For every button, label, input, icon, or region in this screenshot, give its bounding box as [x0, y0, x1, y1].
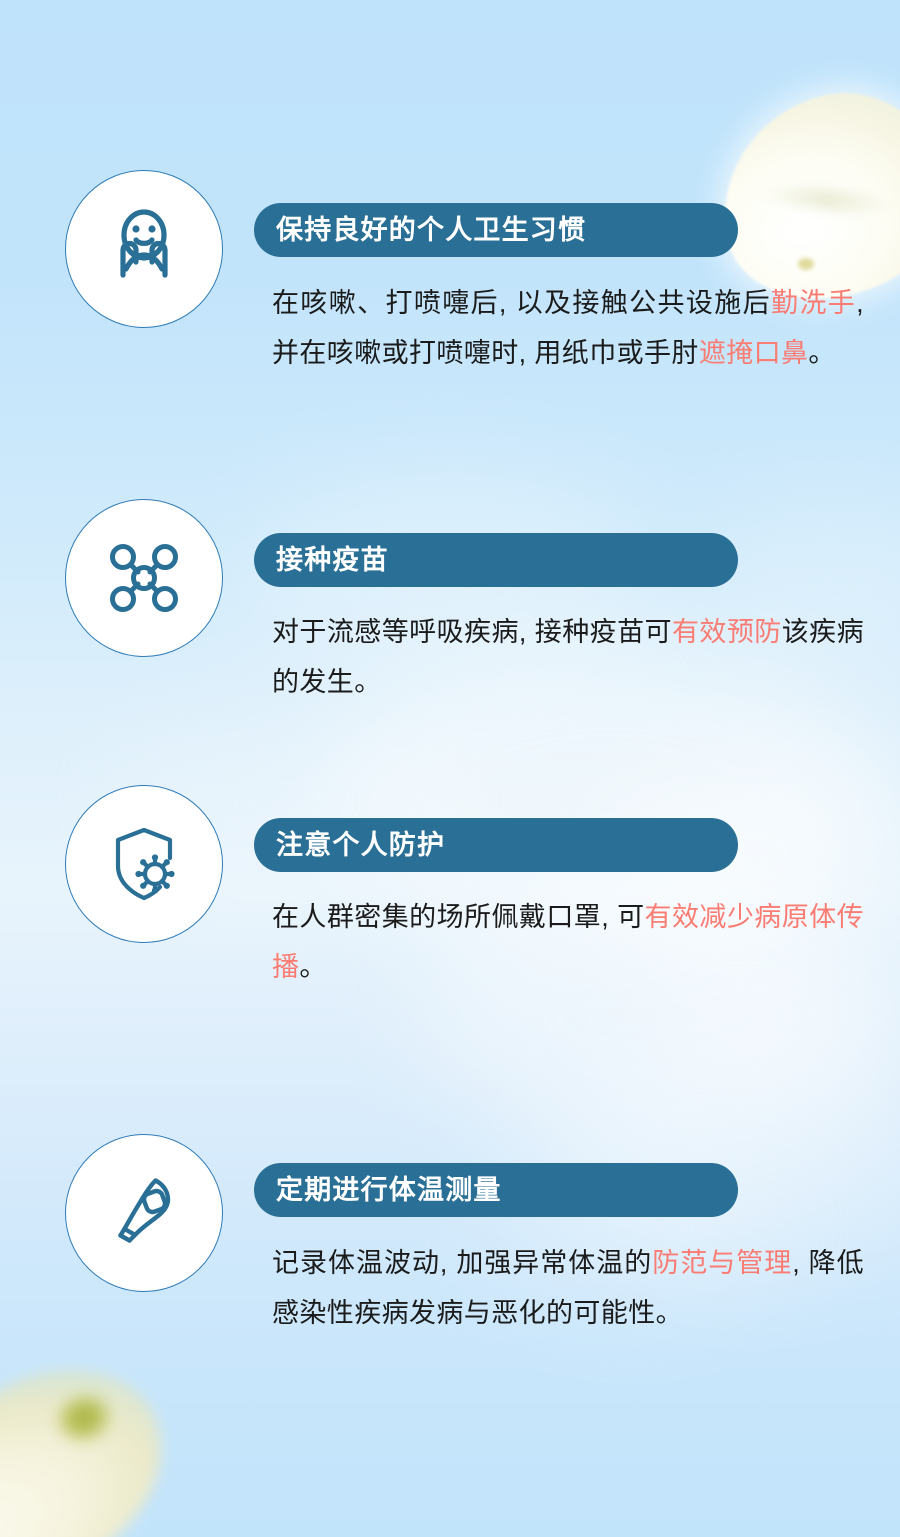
thermometer-icon [98, 1167, 190, 1259]
tip-body-3: 在人群密集的场所佩戴口罩, 可有效减少病原体传播。 [272, 892, 864, 992]
tip-body-part: 。 [808, 338, 835, 368]
tip-body-part: 对于流感等呼吸疾病, 接种疫苗可 [272, 617, 672, 647]
cloud-texture [560, 1040, 900, 1270]
tip-title-banner-2: 接种疫苗 [254, 533, 738, 587]
tip-body-1: 在咳嗽、打喷嚏后, 以及接触公共设施后勤洗手, 并在咳嗽或打喷嚏时, 用纸巾或手… [272, 278, 864, 378]
tip-body-highlight: 有效预防 [672, 617, 782, 647]
tip-body-part: 在咳嗽、打喷嚏后, 以及接触公共设施后 [272, 288, 771, 318]
molecule-network-icon [98, 532, 190, 624]
icon-circle-4 [65, 1134, 223, 1292]
tip-body-part: 记录体温波动, 加强异常体温的 [272, 1248, 652, 1278]
tip-body-4: 记录体温波动, 加强异常体温的防范与管理, 降低感染性疾病发病与恶化的可能性。 [272, 1238, 864, 1338]
tip-body-2: 对于流感等呼吸疾病, 接种疫苗可有效预防该疾病的发生。 [272, 607, 864, 707]
tip-title-1: 保持良好的个人卫生习惯 [276, 217, 586, 244]
flower-petal-top-right-tip [798, 258, 814, 270]
person-hygiene-icon [98, 203, 190, 295]
tip-title-3: 注意个人防护 [276, 832, 445, 859]
tip-title-banner-3: 注意个人防护 [254, 818, 738, 872]
tip-body-highlight: 遮掩口鼻 [699, 338, 809, 368]
tip-title-banner-1: 保持良好的个人卫生习惯 [254, 203, 738, 257]
poster-canvas: 保持良好的个人卫生习惯 在咳嗽、打喷嚏后, 以及接触公共设施后勤洗手, 并在咳嗽… [0, 0, 900, 1537]
icon-circle-2 [65, 499, 223, 657]
shield-virus-icon [98, 818, 190, 910]
icon-circle-3 [65, 785, 223, 943]
icon-circle-1 [65, 170, 223, 328]
tip-title-banner-4: 定期进行体温测量 [254, 1163, 738, 1217]
tip-body-highlight: 防范与管理 [652, 1248, 792, 1278]
tip-title-4: 定期进行体温测量 [276, 1177, 502, 1204]
tip-body-highlight: 勤洗手 [771, 288, 856, 318]
tip-body-part: 。 [299, 952, 326, 982]
tip-title-2: 接种疫苗 [276, 547, 389, 574]
tip-body-part: 在人群密集的场所佩戴口罩, 可 [272, 902, 645, 932]
